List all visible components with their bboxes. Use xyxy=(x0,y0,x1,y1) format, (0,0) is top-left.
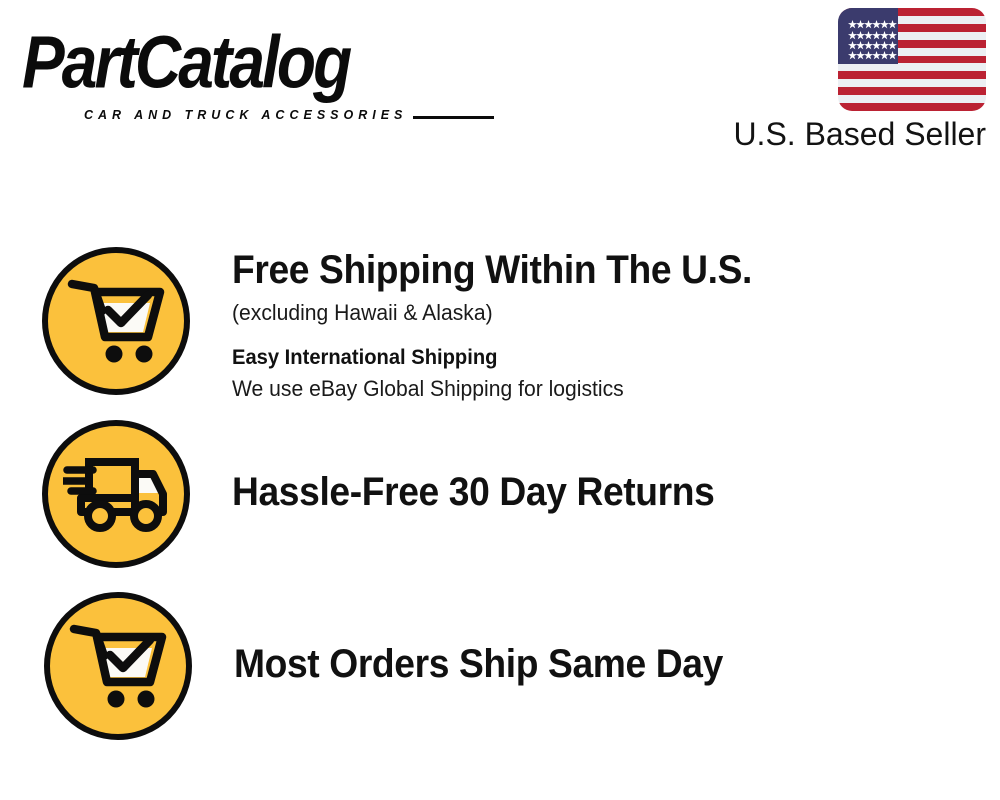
feature-headline: Free Shipping Within The U.S. xyxy=(232,247,752,293)
delivery-truck-icon xyxy=(42,420,190,568)
shopping-cart-check-icon xyxy=(44,592,192,740)
feature-sub-body: We use eBay Global Shipping for logistic… xyxy=(232,374,769,404)
feature-list: Free Shipping Within The U.S. (excluding… xyxy=(0,0,1000,800)
feature-row-same-day-shipping: Most Orders Ship Same Day xyxy=(44,592,760,740)
feature-row-returns: Hassle-Free 30 Day Returns xyxy=(42,420,751,568)
shopping-cart-check-icon xyxy=(42,247,190,395)
feature-sub-heading: Easy International Shipping xyxy=(232,344,769,372)
feature-text-block: Free Shipping Within The U.S. (excluding… xyxy=(232,247,791,404)
feature-row-free-shipping: Free Shipping Within The U.S. (excluding… xyxy=(42,247,791,404)
banner-page: PartCatalog CAR AND TRUCK ACCESSORIES xyxy=(0,0,1000,800)
feature-text-block: Hassle-Free 30 Day Returns xyxy=(232,420,751,515)
feature-headline: Most Orders Ship Same Day xyxy=(234,641,723,687)
feature-text-block: Most Orders Ship Same Day xyxy=(234,592,760,687)
feature-subline: (excluding Hawaii & Alaska) xyxy=(232,298,769,328)
feature-headline: Hassle-Free 30 Day Returns xyxy=(232,469,714,515)
